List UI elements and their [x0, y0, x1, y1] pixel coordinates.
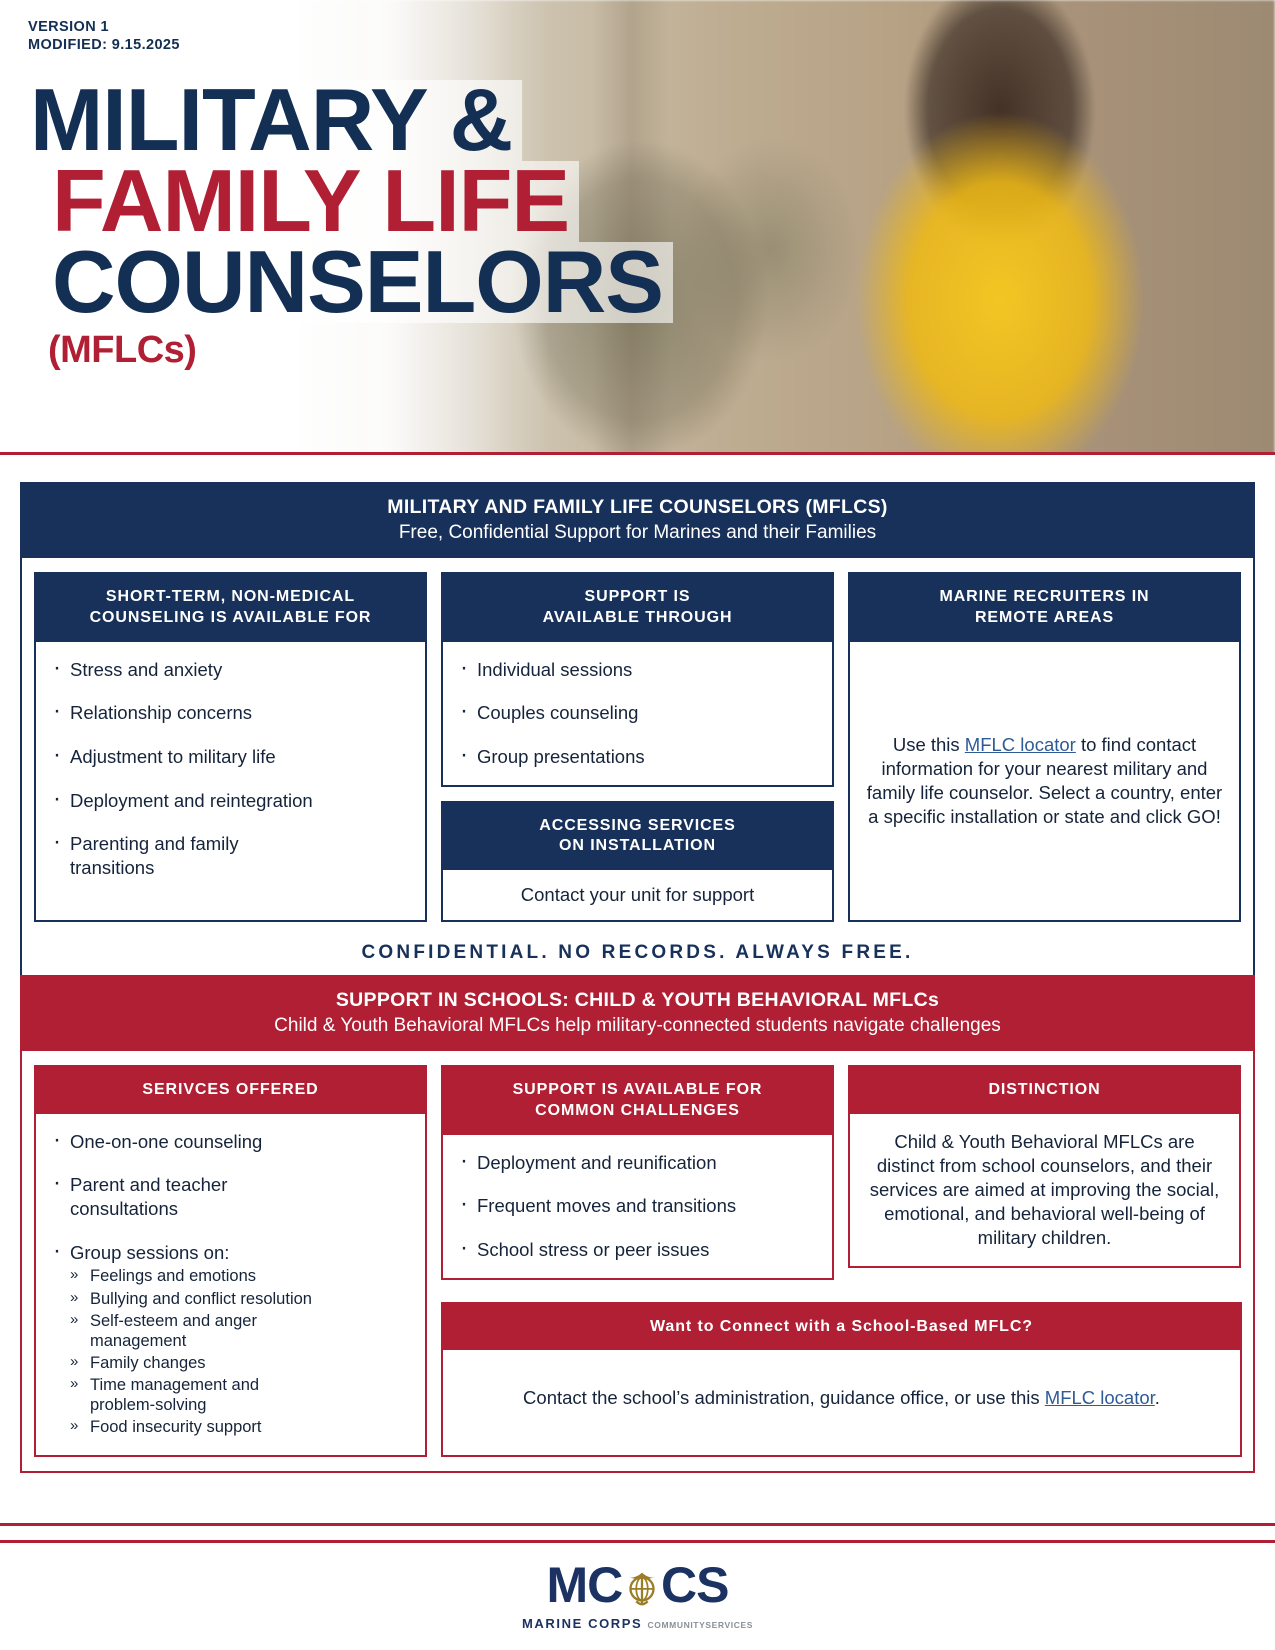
card-common-challenges-body: Deployment and reunification Frequent mo… — [443, 1135, 832, 1278]
card-common-challenges-header: SUPPORT IS AVAILABLE FOR COMMON CHALLENG… — [443, 1067, 832, 1135]
list-item: Individual sessions — [457, 658, 818, 682]
services-offered-list: One-on-one counseling Parent and teacher… — [50, 1130, 411, 1438]
list-item: Group sessions on: Feelings and emotions… — [50, 1241, 411, 1438]
mccs-logo-wordmark: MC CS — [547, 1556, 729, 1614]
column-remote-recruiters: MARINE RECRUITERS IN REMOTE AREAS Use th… — [848, 572, 1241, 922]
group-sessions-sublist: Feelings and emotions Bullying and confl… — [70, 1266, 411, 1437]
title-line-2: FAMILY LIFE — [46, 161, 579, 242]
list-item: Deployment and reunification — [457, 1151, 818, 1175]
title-line-4: (MFLCs) — [48, 329, 673, 372]
column-support-modes: SUPPORT IS AVAILABLE THROUGH Individual … — [441, 572, 834, 922]
card-support-modes: SUPPORT IS AVAILABLE THROUGH Individual … — [441, 572, 834, 787]
mccs-logo-right: CS — [661, 1557, 728, 1613]
list-item: Parent and teacher consultations — [50, 1173, 280, 1220]
mflc-overview-band: MILITARY AND FAMILY LIFE COUNSELORS (MFL… — [22, 484, 1253, 558]
modified-label: MODIFIED: 9.15.2025 — [28, 36, 180, 54]
counseling-topics-list: Stress and anxiety Relationship concerns… — [50, 658, 411, 880]
sub-list-item: Family changes — [70, 1353, 411, 1373]
mccs-logo-tagline-small-2: SERVICES — [705, 1620, 753, 1630]
card-remote-recruiters-header-line1: MARINE RECRUITERS IN — [858, 587, 1231, 608]
card-remote-recruiters: MARINE RECRUITERS IN REMOTE AREAS Use th… — [848, 572, 1241, 922]
mccs-logo-tagline: MARINE CORPS COMMUNITYSERVICES — [0, 1616, 1275, 1631]
card-accessing-services-header-line1: ACCESSING SERVICES — [451, 816, 824, 837]
card-counseling-topics-header-line1: SHORT-TERM, NON-MEDICAL — [44, 587, 417, 608]
confidentiality-tagline: CONFIDENTIAL. NO RECORDS. ALWAYS FREE. — [22, 922, 1253, 982]
card-support-modes-header: SUPPORT IS AVAILABLE THROUGH — [443, 574, 832, 642]
list-item: Adjustment to military life — [50, 745, 411, 769]
card-support-modes-header-line2: AVAILABLE THROUGH — [451, 608, 824, 629]
support-modes-list: Individual sessions Couples counseling G… — [457, 658, 818, 769]
column-common-challenges: SUPPORT IS AVAILABLE FOR COMMON CHALLENG… — [441, 1065, 834, 1457]
list-item: Stress and anxiety — [50, 658, 411, 682]
card-services-offered-body: One-on-one counseling Parent and teacher… — [36, 1114, 425, 1456]
spacer — [441, 787, 834, 801]
card-distinction: DISTINCTION Child & Youth Behavioral MFL… — [848, 1065, 1241, 1268]
common-challenges-list: Deployment and reunification Frequent mo… — [457, 1151, 818, 1262]
card-remote-recruiters-header: MARINE RECRUITERS IN REMOTE AREAS — [850, 574, 1239, 642]
page-title: MILITARY & FAMILY LIFE COUNSELORS (MFLCs… — [24, 80, 673, 372]
card-remote-recruiters-header-line2: REMOTE AREAS — [858, 608, 1231, 629]
card-remote-recruiters-body: Use this MFLC locator to find contact in… — [850, 642, 1239, 921]
footer-rule-top — [0, 1523, 1275, 1526]
list-item: Couples counseling — [457, 701, 818, 725]
hero-banner: VERSION 1 MODIFIED: 9.15.2025 MILITARY &… — [0, 0, 1275, 455]
hero-divider-rule — [0, 452, 1275, 455]
sub-list-item: Feelings and emotions — [70, 1266, 411, 1286]
card-accessing-services-header-line2: ON INSTALLATION — [451, 836, 824, 857]
sub-list-item: Food insecurity support — [70, 1417, 411, 1437]
list-item: Deployment and reintegration — [50, 789, 411, 813]
list-item: Parenting and family transitions — [50, 832, 295, 879]
flyer-page: VERSION 1 MODIFIED: 9.15.2025 MILITARY &… — [0, 0, 1275, 1650]
list-item: Relationship concerns — [50, 701, 411, 725]
card-counseling-topics-header: SHORT-TERM, NON-MEDICAL COUNSELING IS AV… — [36, 574, 425, 642]
eagle-globe-anchor-icon — [619, 1563, 665, 1609]
card-distinction-body: Child & Youth Behavioral MFLCs are disti… — [850, 1114, 1239, 1266]
mccs-logo: MC CS MARINE CORPS COMMUNITYSERVICES — [0, 1556, 1275, 1631]
mflc-locator-link[interactable]: MFLC locator — [965, 734, 1076, 755]
footer-rule-bottom — [0, 1540, 1275, 1543]
card-support-modes-body: Individual sessions Couples counseling G… — [443, 642, 832, 785]
school-support-columns: SERIVCES OFFERED One-on-one counseling P… — [22, 1051, 1253, 1471]
card-common-challenges-header-line2: COMMON CHALLENGES — [451, 1101, 824, 1122]
school-support-band: SUPPORT IN SCHOOLS: CHILD & YOUTH BEHAVI… — [22, 977, 1253, 1051]
list-item: One-on-one counseling — [50, 1130, 411, 1154]
version-block: VERSION 1 MODIFIED: 9.15.2025 — [28, 18, 180, 54]
card-counseling-topics-body: Stress and anxiety Relationship concerns… — [36, 642, 425, 896]
mflc-overview-section: MILITARY AND FAMILY LIFE COUNSELORS (MFL… — [20, 482, 1255, 984]
mflc-overview-title: MILITARY AND FAMILY LIFE COUNSELORS (MFL… — [32, 496, 1243, 519]
card-accessing-services: ACCESSING SERVICES ON INSTALLATION Conta… — [441, 801, 834, 923]
list-item: Frequent moves and transitions — [457, 1194, 818, 1218]
mccs-logo-tagline-small-1: COMMUNITY — [648, 1620, 706, 1630]
card-support-modes-header-line1: SUPPORT IS — [451, 587, 824, 608]
mflc-overview-columns: SHORT-TERM, NON-MEDICAL COUNSELING IS AV… — [22, 558, 1253, 922]
version-label: VERSION 1 — [28, 18, 180, 36]
card-counseling-topics-header-line2: COUNSELING IS AVAILABLE FOR — [44, 608, 417, 629]
distinction-paragraph: Child & Youth Behavioral MFLCs are disti… — [864, 1130, 1225, 1250]
sub-list-item: Self-esteem and anger management — [70, 1311, 285, 1351]
mccs-logo-left: MC — [547, 1557, 623, 1613]
list-item: Group presentations — [457, 745, 818, 769]
remote-recruiters-paragraph: Use this MFLC locator to find contact in… — [864, 733, 1225, 829]
card-common-challenges-header-line1: SUPPORT IS AVAILABLE FOR — [451, 1080, 824, 1101]
card-distinction-header: DISTINCTION — [850, 1067, 1239, 1114]
school-support-subtitle: Child & Youth Behavioral MFLCs help mili… — [32, 1015, 1243, 1037]
mflc-overview-subtitle: Free, Confidential Support for Marines a… — [32, 522, 1243, 544]
card-common-challenges: SUPPORT IS AVAILABLE FOR COMMON CHALLENG… — [441, 1065, 834, 1280]
mccs-logo-tagline-main: MARINE CORPS — [522, 1616, 642, 1631]
group-sessions-label: Group sessions on: — [70, 1242, 229, 1263]
remote-text-before: Use this — [893, 734, 965, 755]
school-support-section: SUPPORT IN SCHOOLS: CHILD & YOUTH BEHAVI… — [20, 975, 1255, 1473]
card-accessing-services-body: Contact your unit for support — [443, 870, 832, 920]
column-services-offered: SERIVCES OFFERED One-on-one counseling P… — [34, 1065, 427, 1457]
title-line-3: COUNSELORS — [46, 242, 673, 323]
spacer — [441, 1280, 834, 1302]
card-services-offered: SERIVCES OFFERED One-on-one counseling P… — [34, 1065, 427, 1457]
card-services-offered-header: SERIVCES OFFERED — [36, 1067, 425, 1114]
mccs-logo-ega-slot — [622, 1556, 661, 1614]
card-counseling-topics: SHORT-TERM, NON-MEDICAL COUNSELING IS AV… — [34, 572, 427, 922]
sub-list-item: Time management and problem-solving — [70, 1375, 285, 1415]
title-line-1: MILITARY & — [24, 80, 522, 161]
card-accessing-services-header: ACCESSING SERVICES ON INSTALLATION — [443, 803, 832, 871]
list-item: School stress or peer issues — [457, 1238, 818, 1262]
school-support-title: SUPPORT IN SCHOOLS: CHILD & YOUTH BEHAVI… — [32, 989, 1243, 1012]
column-counseling-topics: SHORT-TERM, NON-MEDICAL COUNSELING IS AV… — [34, 572, 427, 922]
column-distinction: DISTINCTION Child & Youth Behavioral MFL… — [848, 1065, 1241, 1457]
sub-list-item: Bullying and conflict resolution — [70, 1289, 411, 1309]
